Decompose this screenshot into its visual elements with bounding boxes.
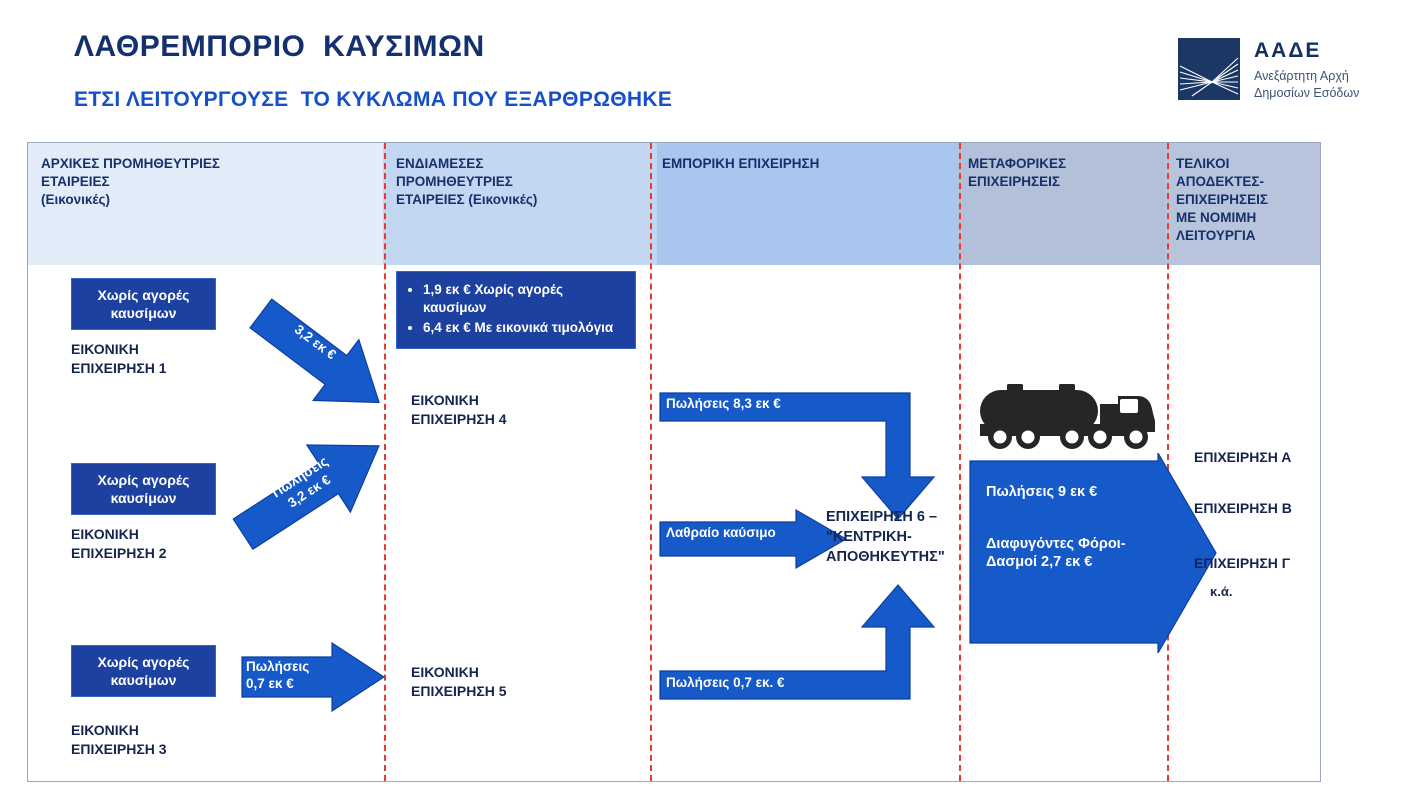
col1-entity-3-label: ΕΙΚΟΝΙΚΗ ΕΠΙΧΕΙΡΗΣΗ 3 <box>71 721 167 760</box>
column-divider-2 <box>650 143 652 781</box>
col2-bullet-1: 1,9 εκ € Χωρίς αγορές καυσίμων <box>423 281 625 317</box>
col5-item-3: ΕΠΙΧΕΙΡΗΣΗ Γ <box>1194 554 1290 573</box>
column-divider-3 <box>959 143 961 781</box>
col2-bullet-box: 1,9 εκ € Χωρίς αγορές καυσίμων 6,4 εκ € … <box>396 271 636 349</box>
col5-item-2: ΕΠΙΧΕΙΡΗΣΗ Β <box>1194 499 1292 518</box>
col2-entity-4-label: ΕΙΚΟΝΙΚΗ ΕΠΙΧΕΙΡΗΣΗ 4 <box>411 391 507 430</box>
column-header-label-1: ΑΡΧΙΚΕΣ ΠΡΟΜΗΘΕΥΤΡΙΕΣ ΕΤΑΙΡΕΙΕΣ (Εικονικ… <box>41 155 371 209</box>
col5-item-1: ΕΠΙΧΕΙΡΗΣΗ Α <box>1194 448 1291 467</box>
diagram-frame: ΑΡΧΙΚΕΣ ΠΡΟΜΗΘΕΥΤΡΙΕΣ ΕΤΑΙΡΕΙΕΣ (Εικονικ… <box>27 142 1321 782</box>
page-title: ΛΑΘΡΕΜΠΟΡΙΟ ΚΑΥΣΙΜΩΝ <box>74 30 485 64</box>
col1-arrow-1 <box>240 298 400 418</box>
column-header-label-3: ΕΜΠΟΡΙΚΗ ΕΠΙΧΕΙΡΗΣΗ <box>662 155 952 173</box>
column-header-label-4: ΜΕΤΑΦΟΡΙΚΕΣ ΕΠΙΧΕΙΡΗΣΕΙΣ <box>968 155 1166 191</box>
column-header-label-5: ΤΕΛΙΚΟΙ ΑΠΟΔΕΚΤΕΣ- ΕΠΙΧΕΙΡΗΣΕΙΣ ΜΕ ΝΟΜΙΜ… <box>1176 155 1321 245</box>
col4-truck-icon <box>976 380 1156 452</box>
column-header-label-2: ΕΝΔΙΑΜΕΣΕΣ ΠΡΟΜΗΘΕΥΤΡΙΕΣ ΕΤΑΙΡΕΙΕΣ (Εικο… <box>396 155 651 209</box>
logo-line-1: Ανεξάρτητη Αρχή <box>1254 68 1359 85</box>
col3-arrow-top <box>658 391 958 521</box>
col1-box-3: Χωρίς αγορές καυσίμων <box>71 645 216 697</box>
col1-arrow-3 <box>240 641 386 713</box>
aade-rays-logo-icon <box>1178 38 1240 100</box>
col2-bullet-2: 6,4 εκ € Με εικονικά τιμολόγια <box>423 319 625 337</box>
col1-box-1: Χωρίς αγορές καυσίμων <box>71 278 216 330</box>
col5-etc-label: κ.ά. <box>1210 583 1232 601</box>
logo-acronym: ΑΑΔΕ <box>1254 40 1359 61</box>
col3-arrow-mid <box>658 508 848 570</box>
logo-line-2: Δημοσίων Εσόδων <box>1254 85 1359 102</box>
col1-arrow-2 <box>224 428 399 553</box>
col3-center-entity-label: ΕΠΙΧΕΙΡΗΣΗ 6 – "ΚΕΝΤΡΙΚΗ- ΑΠΟΘΗΚΕΥΤΗΣ" <box>826 507 945 567</box>
col1-box-2: Χωρίς αγορές καυσίμων <box>71 463 216 515</box>
col1-entity-2-label: ΕΙΚΟΝΙΚΗ ΕΠΙΧΕΙΡΗΣΗ 2 <box>71 525 167 564</box>
col2-entity-5-label: ΕΙΚΟΝΙΚΗ ΕΠΙΧΕΙΡΗΣΗ 5 <box>411 663 507 702</box>
col3-arrow-bottom <box>658 583 958 701</box>
col4-big-arrow <box>968 453 1218 653</box>
page-subtitle: ΕΤΣΙ ΛΕΙΤΟΥΡΓΟΥΣΕ ΤΟ ΚΥΚΛΩΜΑ ΠΟΥ ΕΞΑΡΘΡΩ… <box>74 88 672 112</box>
aade-logo: ΑΑΔΕ Ανεξάρτητη Αρχή Δημοσίων Εσόδων <box>1178 38 1359 102</box>
col1-entity-1-label: ΕΙΚΟΝΙΚΗ ΕΠΙΧΕΙΡΗΣΗ 1 <box>71 340 167 379</box>
